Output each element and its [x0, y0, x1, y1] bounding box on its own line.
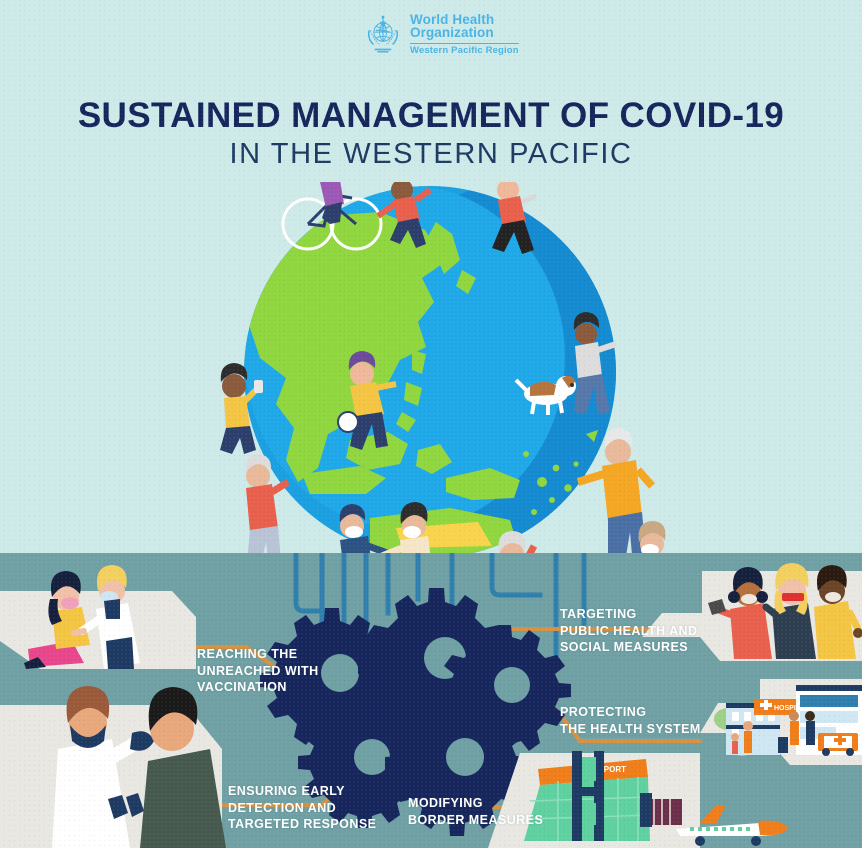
page-subtitle: IN THE WESTERN PACIFIC — [0, 138, 862, 171]
label-reaching-unreached-vaccination: REACHING THE UNREACHED WITH VACCINATION — [197, 646, 319, 696]
who-logo-line2: Organization — [410, 26, 519, 40]
panel-vaccination — [0, 565, 196, 669]
who-logo-region: Western Pacific Region — [410, 46, 519, 56]
who-logo-line1: World Health — [410, 13, 519, 27]
person-standing-right — [638, 521, 670, 553]
page-title: SUSTAINED MANAGEMENT OF COVID-19 — [0, 96, 862, 136]
panel-hospital: HOSPITAL — [700, 679, 862, 765]
label-modifying-border-measures: MODIFYING BORDER MEASURES — [408, 795, 543, 828]
label-targeting-public-health-social-measures: TARGETING PUBLIC HEALTH AND SOCIAL MEASU… — [560, 606, 698, 656]
label-ensuring-early-detection-targeted-response: ENSURING EARLY DETECTION AND TARGETED RE… — [228, 783, 376, 833]
who-emblem-icon — [361, 12, 405, 56]
label-protecting-health-system: PROTECTING THE HEALTH SYSTEM — [560, 704, 701, 737]
who-logo-divider — [410, 43, 519, 44]
who-logo: World Health Organization Western Pacifi… — [361, 6, 503, 62]
panel-swab-testing — [0, 686, 226, 848]
globe-illustration — [190, 182, 670, 553]
